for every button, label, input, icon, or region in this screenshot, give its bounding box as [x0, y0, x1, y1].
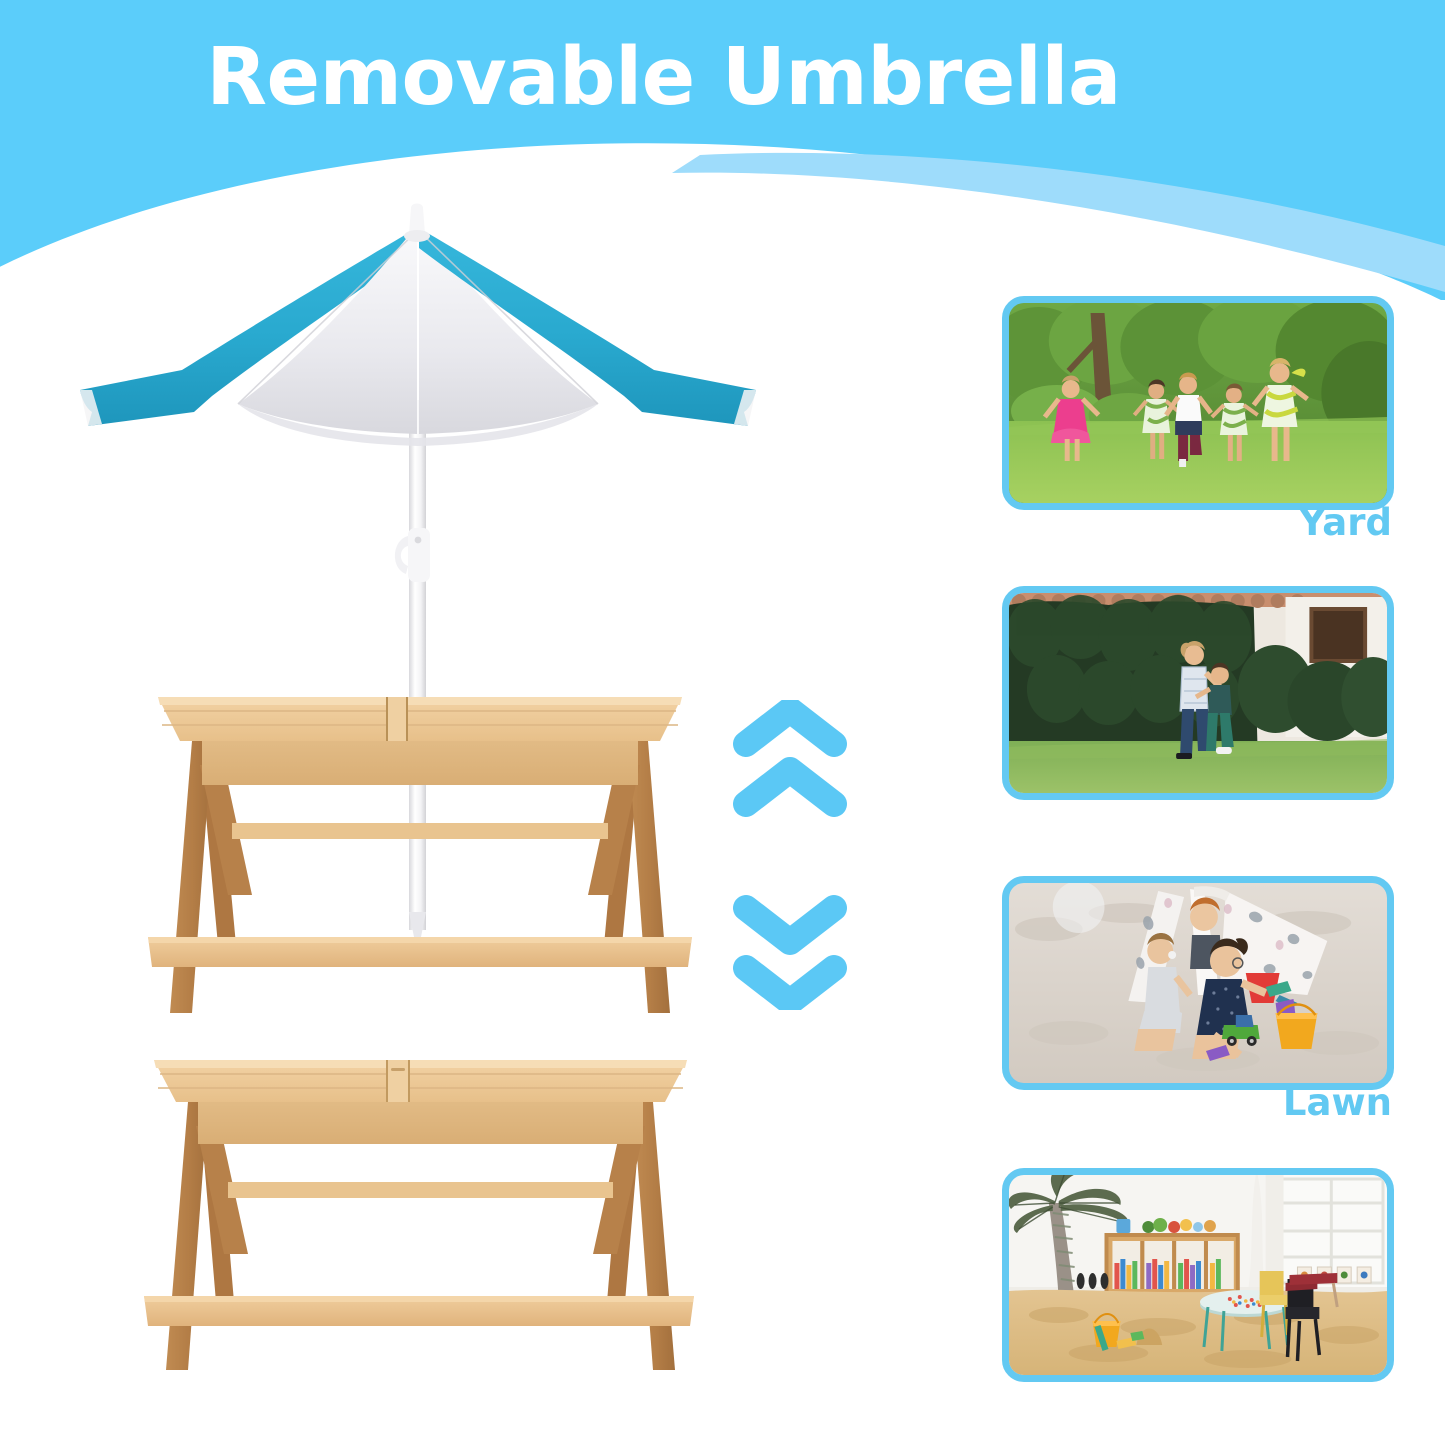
umbrella-hole-cover: [386, 1060, 410, 1102]
chevrons-svg: [730, 700, 850, 1010]
picnic-table-without-umbrella: [138, 1040, 703, 1405]
chevron-down-icon-2: [746, 968, 834, 1002]
chevron-up-icon-1: [746, 710, 834, 744]
chevron-down-icon-1: [746, 908, 834, 942]
scene-card-frame: [1002, 296, 1394, 510]
scene-label-yard: Yard: [1299, 504, 1392, 541]
picnic-table-with-umbrella: [140, 645, 700, 1035]
beach-photo: [1009, 883, 1387, 1083]
scene-card-beach[interactable]: Beach: [1002, 876, 1394, 1090]
scene-card-kids-room[interactable]: Kids room: [1002, 1168, 1394, 1382]
table-bench-rear: [232, 823, 608, 839]
usage-scene-cards: Yard: [1002, 296, 1400, 1426]
kids-room-photo: [1009, 1175, 1387, 1375]
picnic-table-bottom-svg: [138, 1040, 703, 1405]
scene-card-yard[interactable]: Yard: [1002, 296, 1394, 510]
page-title: Removable Umbrella: [0, 36, 1445, 120]
up-down-arrows-group: [730, 700, 850, 1010]
scene-card-frame: [1002, 1168, 1394, 1382]
scene-card-lawn[interactable]: Lawn: [1002, 586, 1394, 800]
scene-card-frame: [1002, 586, 1394, 800]
yard-photo: [1009, 303, 1387, 503]
kids-room-with-sand-floor-illustration: [1009, 1175, 1387, 1375]
picnic-table-top-svg: [140, 645, 700, 1035]
umbrella-finial: [409, 204, 425, 235]
chevron-up-icon-2: [746, 770, 834, 804]
mother-and-child-on-lawn-illustration: [1009, 593, 1387, 793]
infographic-page: Removable Umbrella: [0, 0, 1445, 1445]
table-bench-rear: [228, 1182, 613, 1198]
children-running-on-grass-yard-illustration: [1009, 303, 1387, 503]
umbrella-hole-slot: [386, 697, 408, 741]
kids-playing-in-sand-illustration: [1009, 883, 1387, 1083]
lawn-photo: [1009, 593, 1387, 793]
scene-card-frame: [1002, 876, 1394, 1090]
umbrella-tilt-crank: [395, 528, 430, 582]
